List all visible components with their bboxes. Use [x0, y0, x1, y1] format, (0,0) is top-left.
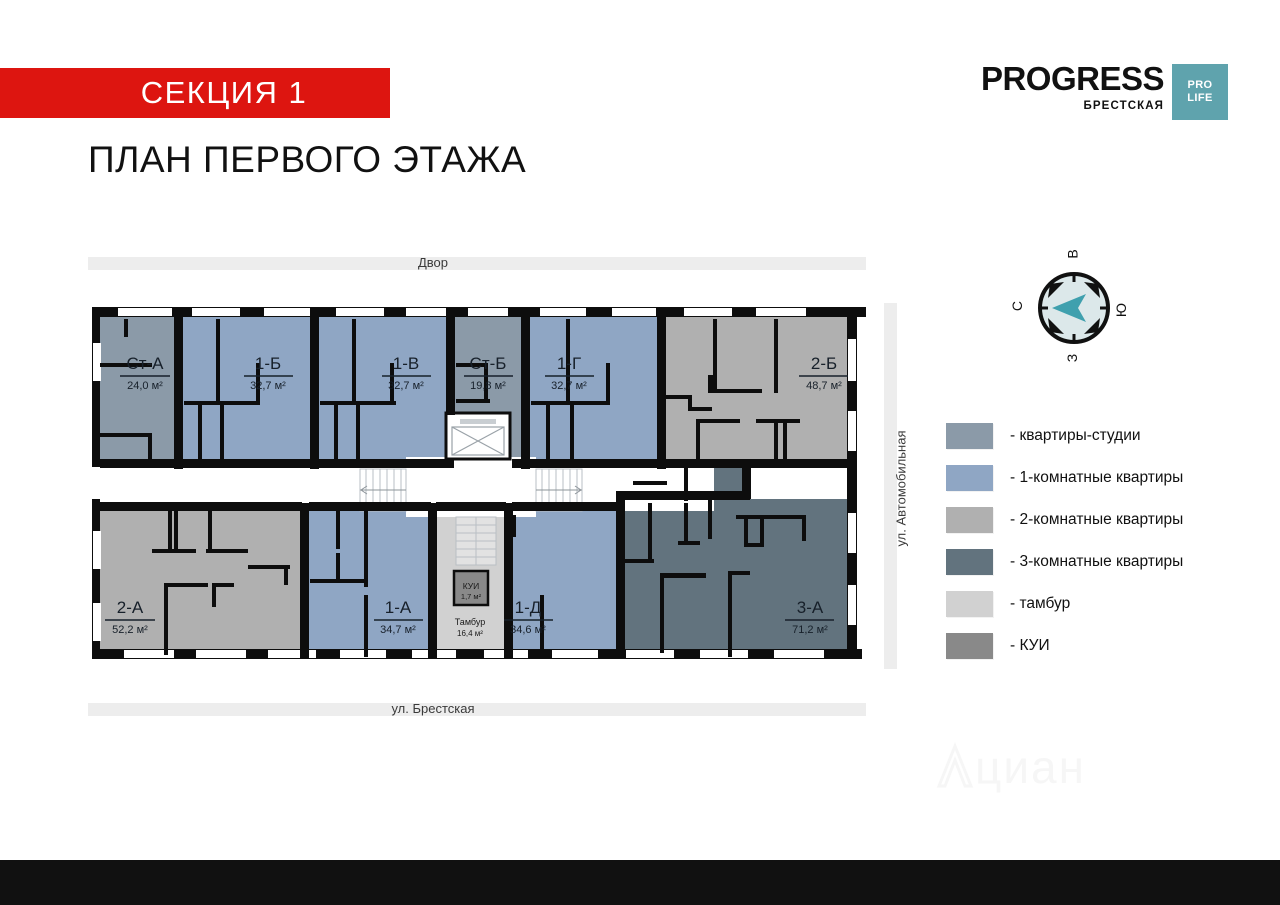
- street-label-right: ул. Автомобильная: [894, 429, 909, 549]
- svg-text:24,0 м²: 24,0 м²: [127, 380, 163, 392]
- svg-text:2-Б: 2-Б: [811, 354, 837, 373]
- legend-label-3room: - 3-комнатные квартиры: [1010, 553, 1183, 571]
- floorplan-svg: Ст-А 24,0 м² 1-Б 32,7 м² 1-В 32,7 м² Ст-…: [88, 303, 866, 669]
- legend-swatch-kui: [946, 633, 993, 659]
- legend-label-1room: - 1-комнатные квартиры: [1010, 469, 1183, 487]
- legend-swatch-3room: [946, 549, 993, 575]
- legend-item-studio: - квартиры-студии: [946, 415, 1183, 457]
- compass-label-north: С: [1009, 301, 1025, 311]
- brand-subtitle: БРЕСТСКАЯ: [1084, 100, 1164, 112]
- pro-life-badge: PRO LIFE: [1172, 64, 1228, 120]
- svg-text:16,4 м²: 16,4 м²: [457, 629, 483, 638]
- svg-text:1-Д: 1-Д: [515, 598, 542, 617]
- compass-icon: [1028, 262, 1120, 354]
- pro-life-line2: LIFE: [1187, 92, 1212, 105]
- svg-text:1-В: 1-В: [393, 354, 419, 373]
- legend-item-2room: - 2-комнатные квартиры: [946, 499, 1183, 541]
- page-title: ПЛАН ПЕРВОГО ЭТАЖА: [88, 139, 526, 181]
- tambur-staircase: [456, 517, 496, 565]
- brand-name: PROGRESS: [981, 62, 1164, 95]
- svg-text:19,8 м²: 19,8 м²: [470, 380, 506, 392]
- svg-text:34,6 м²: 34,6 м²: [510, 624, 546, 636]
- svg-text:71,2 м²: 71,2 м²: [792, 624, 828, 636]
- floorplan-drawing: Ст-А 24,0 м² 1-Б 32,7 м² 1-В 32,7 м² Ст-…: [88, 303, 866, 669]
- svg-text:КУИ: КУИ: [463, 581, 480, 591]
- svg-text:48,7 м²: 48,7 м²: [806, 380, 842, 392]
- legend-item-1room: - 1-комнатные квартиры: [946, 457, 1183, 499]
- svg-text:32,7 м²: 32,7 м²: [388, 380, 424, 392]
- cian-watermark-text: циан: [975, 740, 1086, 794]
- legend-item-kui: - КУИ: [946, 625, 1183, 667]
- svg-text:34,7 м²: 34,7 м²: [380, 624, 416, 636]
- legend-label-tambur: - тамбур: [1010, 595, 1070, 613]
- legend-swatch-studio: [946, 423, 993, 449]
- svg-text:1-А: 1-А: [385, 598, 412, 617]
- street-label-bottom: ул. Брестская: [0, 701, 866, 716]
- brand-logo-text: PROGRESS БРЕСТСКАЯ: [981, 62, 1172, 112]
- section-badge-label: СЕКЦИЯ 1: [83, 75, 308, 111]
- apartment-fill-st-a: [96, 317, 174, 467]
- svg-text:1-Б: 1-Б: [255, 354, 281, 373]
- compass-rose: С В Ю З: [1028, 262, 1120, 354]
- compass-label-south: Ю: [1113, 303, 1129, 317]
- apartment-fill-1-d: [512, 511, 616, 659]
- legend-swatch-2room: [946, 507, 993, 533]
- svg-text:32,7 м²: 32,7 м²: [551, 380, 587, 392]
- legend-label-2room: - 2-комнатные квартиры: [1010, 511, 1183, 529]
- section-badge: СЕКЦИЯ 1: [0, 68, 390, 118]
- svg-text:Ст-А: Ст-А: [126, 354, 164, 373]
- elevator-shaft: [446, 413, 510, 459]
- svg-text:Ст-Б: Ст-Б: [470, 354, 507, 373]
- brand-logo: PROGRESS БРЕСТСКАЯ PRO LIFE: [981, 62, 1228, 130]
- svg-text:32,7 м²: 32,7 м²: [250, 380, 286, 392]
- bottom-bar: [0, 860, 1280, 905]
- pro-life-line1: PRO: [1187, 79, 1212, 92]
- floorplan-page: СЕКЦИЯ 1 ПЛАН ПЕРВОГО ЭТАЖА PROGRESS БРЕ…: [0, 0, 1280, 905]
- legend-item-3room: - 3-комнатные квартиры: [946, 541, 1183, 583]
- legend-swatch-tambur: [946, 591, 993, 617]
- compass-label-west: З: [1064, 354, 1080, 362]
- svg-text:3-А: 3-А: [797, 598, 824, 617]
- street-label-top: Двор: [0, 255, 866, 270]
- legend: - квартиры-студии - 1-комнатные квартиры…: [946, 415, 1183, 667]
- svg-text:1,7 м²: 1,7 м²: [461, 592, 482, 601]
- svg-text:Тамбур: Тамбур: [455, 617, 486, 627]
- cian-watermark: циан: [935, 738, 1145, 794]
- svg-text:1-Г: 1-Г: [557, 354, 581, 373]
- legend-item-tambur: - тамбур: [946, 583, 1183, 625]
- svg-text:52,2 м²: 52,2 м²: [112, 624, 148, 636]
- legend-label-studio: - квартиры-студии: [1010, 427, 1141, 445]
- legend-label-kui: - КУИ: [1010, 637, 1050, 655]
- legend-swatch-1room: [946, 465, 993, 491]
- compass-label-east: В: [1065, 249, 1081, 258]
- cian-logo-icon: [935, 742, 975, 792]
- svg-text:2-А: 2-А: [117, 598, 144, 617]
